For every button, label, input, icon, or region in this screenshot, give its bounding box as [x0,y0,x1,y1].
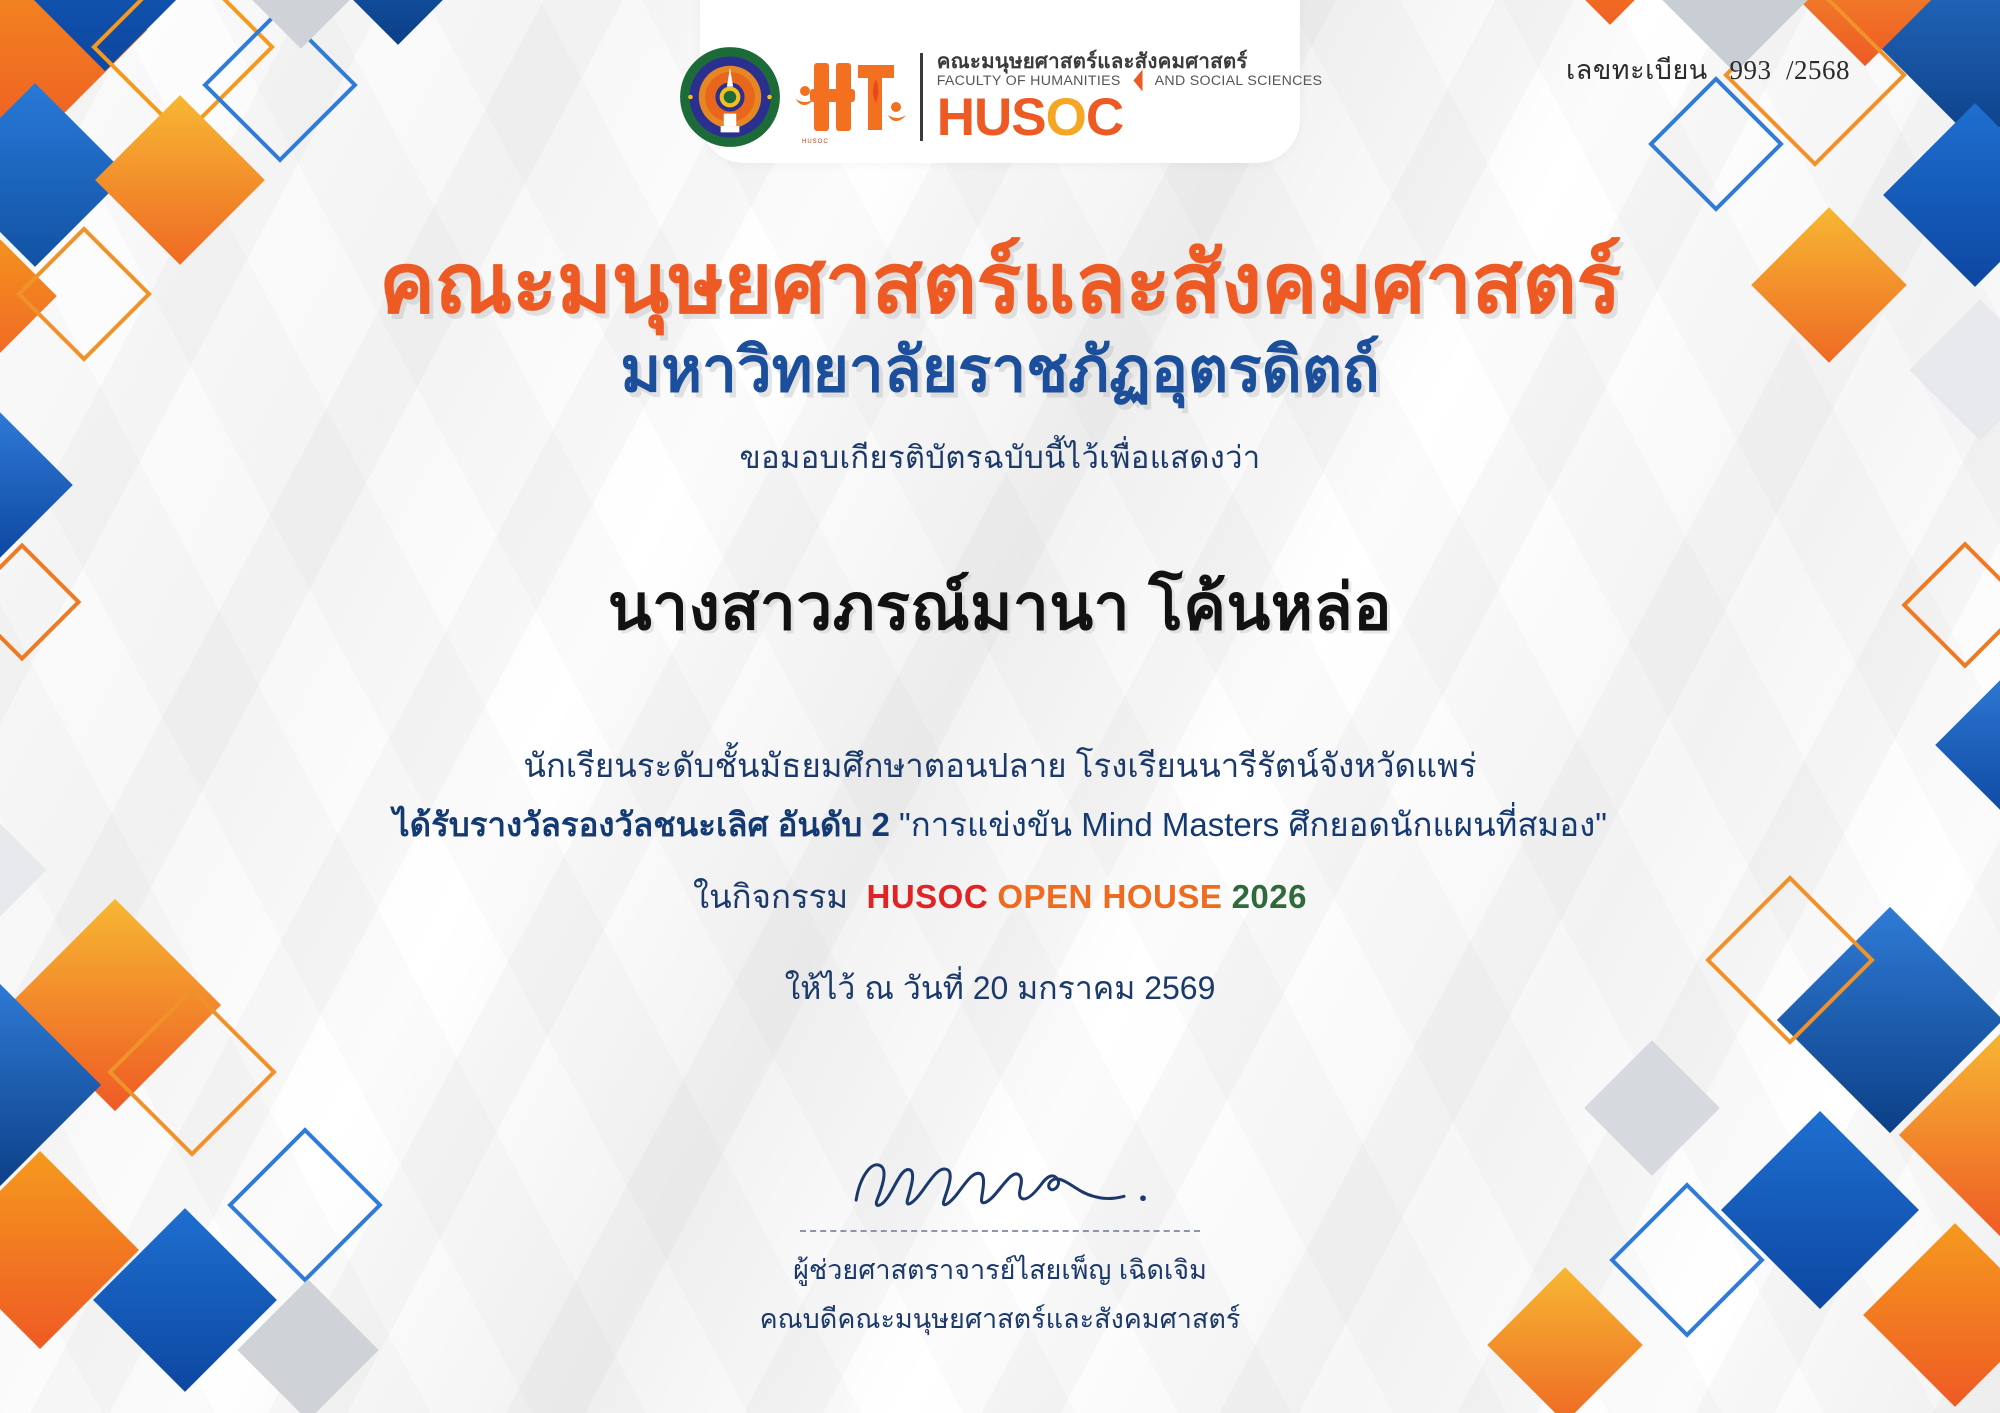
faculty-name-en-left: FACULTY OF HUMANITIES [937,73,1121,89]
signature-rule [800,1230,1200,1232]
certificate-page: HUSOC คณะมนุษยศาสตร์และสังคมศาสตร์ FACUL… [0,0,2000,1413]
event-line: ในกิจกรรม HUSOC OPEN HOUSE 2026 [0,870,2000,923]
faculty-name-block: คณะมนุษยศาสตร์และสังคมศาสตร์ FACULTY OF … [937,51,1323,143]
intro-text: ขอมอบเกียรติบัตรฉบับนี้ไว้เพื่อแสดงว่า [0,432,2000,482]
husoc-wordmark-c: C [1086,88,1123,147]
event-year: 2026 [1232,878,1307,915]
event-prefix: ในกิจกรรม [693,878,848,915]
decor-diamond [1525,0,1695,25]
organization-line-1: คณะมนุษยศาสตร์และสังคมศาสตร์ [0,236,2000,330]
signature-block: ผู้ช่วยศาสตราจารย์ไสยเพ็ญ เฉิดเจิม คณบดี… [0,1145,2000,1340]
decor-diamond-outline [202,7,358,163]
registration-number: เลขทะเบียน 993 /2568 [1566,48,1850,91]
award-rank: ได้รับรางวัลรองวัลชนะเลิศ อันดับ 2 [393,806,890,843]
husoc-wordmark-o: O [1046,88,1086,147]
logo-card: HUSOC คณะมนุษยศาสตร์และสังคมศาสตร์ FACUL… [700,0,1300,163]
decor-diamond-outline [1648,76,1784,212]
decor-diamond [0,0,147,157]
award-competition: "การแข่งขัน Mind Masters ศึกยอดนักแผนที่… [890,806,1607,843]
husoc-wordmark-hus: HUS [937,88,1046,147]
decor-diamond [313,0,483,45]
triangle-separator-icon [1133,70,1142,92]
award-line: ได้รับรางวัลรองวัลชนะเลิศ อันดับ 2 "การแ… [0,799,2000,852]
faculty-name-en: FACULTY OF HUMANITIES AND SOCIAL SCIENCE… [937,73,1323,89]
certificate-content: คณะมนุษยศาสตร์และสังคมศาสตร์ มหาวิทยาลัย… [0,236,2000,1014]
issue-date: ให้ไว้ ณ วันที่ 20 มกราคม 2569 [0,963,2000,1014]
decor-diamond [1853,0,2000,147]
svg-text:HUSOC: HUSOC [802,139,829,145]
faculty-name-en-right: AND SOCIAL SCIENCES [1155,73,1323,89]
event-husoc: HUSOC [867,878,989,915]
organization-line-2: มหาวิทยาลัยราชภัฏอุตรดิตถ์ [0,334,2000,408]
handwritten-signature-icon [839,1145,1162,1221]
registration-value: 993 [1729,55,1771,85]
signer-title: คณบดีคณะมนุษยศาสตร์และสังคมศาสตร์ [0,1297,2000,1340]
recipient-description: นักเรียนระดับชั้นมัธยมศึกษาตอนปลาย โรงเร… [0,740,2000,793]
event-open-house: OPEN HOUSE [997,878,1222,915]
signer-name: ผู้ช่วยศาสตราจารย์ไสยเพ็ญ เฉิดเจิม [0,1248,2000,1291]
husoc-logomark-icon: HUSOC [796,45,906,149]
decor-diamond-outline [91,0,275,139]
registration-year: /2568 [1786,55,1850,85]
registration-label: เลขทะเบียน [1566,55,1708,85]
recipient-name: นางสาวภรณ์มานา โค้นหล่อ [0,556,2000,658]
husoc-wordmark: HUSOC [937,93,1323,143]
decor-diamond [240,0,362,49]
decor-diamond [0,0,211,71]
faculty-name-th: คณะมนุษยศาสตร์และสังคมศาสตร์ [937,51,1323,73]
uttaradit-rajabhat-university-seal-icon [678,45,782,149]
logo-divider [920,53,923,141]
